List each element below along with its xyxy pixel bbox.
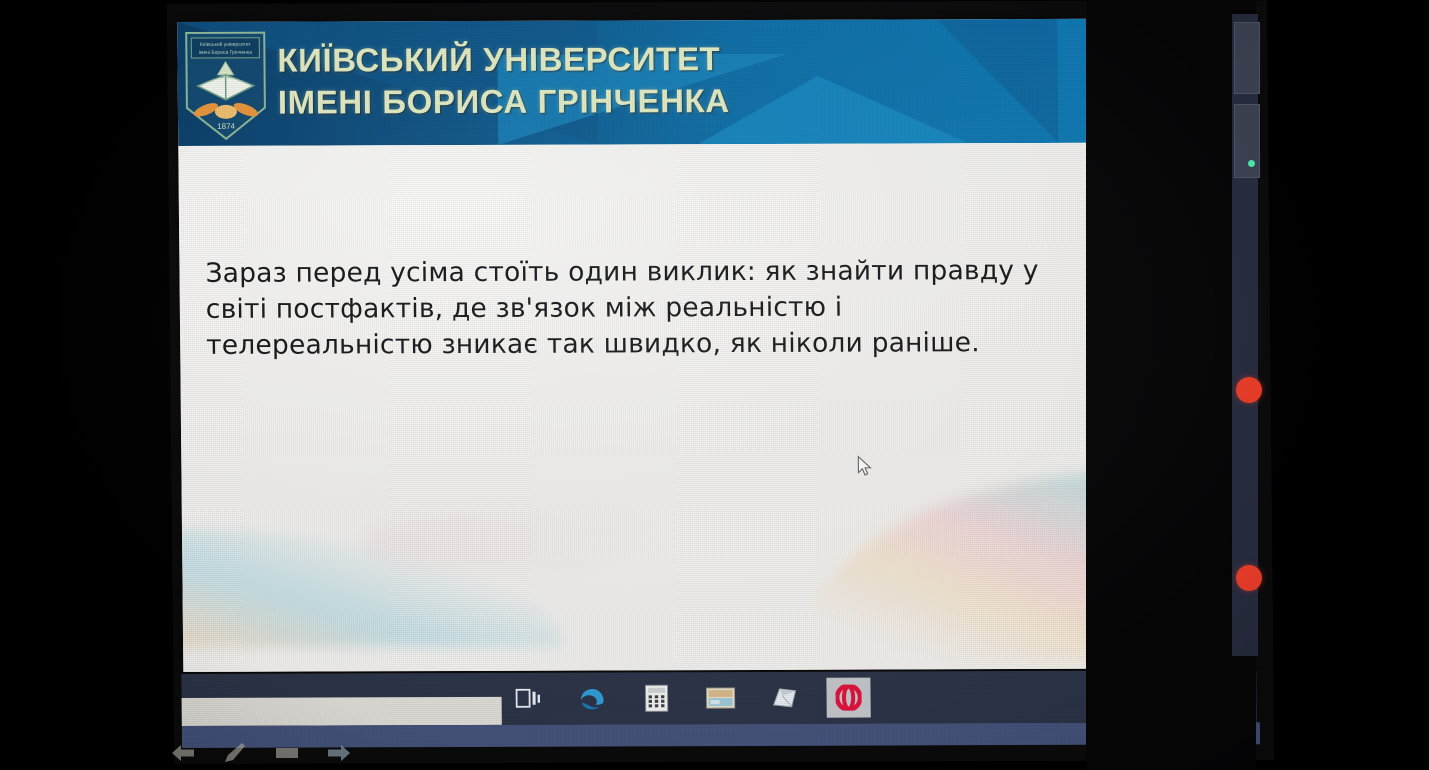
projector-control-strip <box>170 736 410 770</box>
pen-tool-button[interactable] <box>222 741 248 765</box>
banner-facet-chevron <box>698 75 969 144</box>
calculator-icon[interactable] <box>634 678 678 718</box>
device-side-panel <box>1086 0 1256 770</box>
panel-button-upper[interactable] <box>1234 22 1260 94</box>
crest-year: 1874 <box>217 122 235 131</box>
slide-body: Зараз перед усіма стоїть один виклик: як… <box>178 143 1095 672</box>
crest-caption-line-2: імені Бориса Грінченка <box>199 50 252 56</box>
banner-title-line-2: ІМЕНІ БОРИСА ГРІНЧЕНКА <box>278 80 730 124</box>
university-crest-icon: Київський університет імені Бориса Грінч… <box>183 30 268 142</box>
slide-text-line-2: світі постфактів, де зв'язок між реальні… <box>206 289 1066 328</box>
power-led-green-icon <box>1248 160 1255 167</box>
task-view-icon[interactable] <box>506 679 550 719</box>
mouse-pointer-icon <box>857 456 873 483</box>
document-icon[interactable] <box>762 678 806 718</box>
taskbar-search-box[interactable]: е здесь текст для поиска <box>181 697 502 726</box>
monitor-photograph: Київський університет імені Бориса Грінч… <box>0 0 1429 770</box>
status-dot-red-lower-icon[interactable] <box>1236 565 1262 591</box>
back-arrow-button[interactable] <box>170 741 196 765</box>
decorative-curve-center <box>362 510 663 571</box>
slide-text-line-1: Зараз перед усіма стоїть один виклик: як… <box>205 253 1065 292</box>
eraser-button[interactable] <box>274 741 300 765</box>
slide-header-banner: Київський університет імені Бориса Грінч… <box>177 19 1090 146</box>
taskbar-icon-group <box>506 672 871 725</box>
banner-title-line-1: КИЇВСЬКИЙ УНІВЕРСИТЕТ <box>277 38 729 82</box>
forward-arrow-button[interactable] <box>326 741 352 765</box>
decorative-curve-right <box>793 473 1095 664</box>
banner-facet-right <box>937 19 1058 143</box>
slide-text-line-3: телереальністю зникає так швидко, як нік… <box>206 325 1066 364</box>
crest-caption-line-1: Київський університет <box>200 41 252 48</box>
presentation-slide: Київський університет імені Бориса Грінч… <box>177 19 1095 672</box>
status-dot-red-upper-icon[interactable] <box>1236 377 1262 403</box>
panel-button-lower[interactable] <box>1234 104 1260 178</box>
banner-title-block: КИЇВСЬКИЙ УНІВЕРСИТЕТ ІМЕНІ БОРИСА ГРІНЧ… <box>277 38 730 124</box>
decorative-curve-left <box>178 527 563 648</box>
slide-paragraph: Зараз перед усіма стоїть один виклик: як… <box>205 253 1066 364</box>
edge-browser-icon[interactable] <box>570 678 614 718</box>
opera-browser-icon[interactable] <box>826 678 870 718</box>
photos-icon[interactable] <box>698 678 742 718</box>
